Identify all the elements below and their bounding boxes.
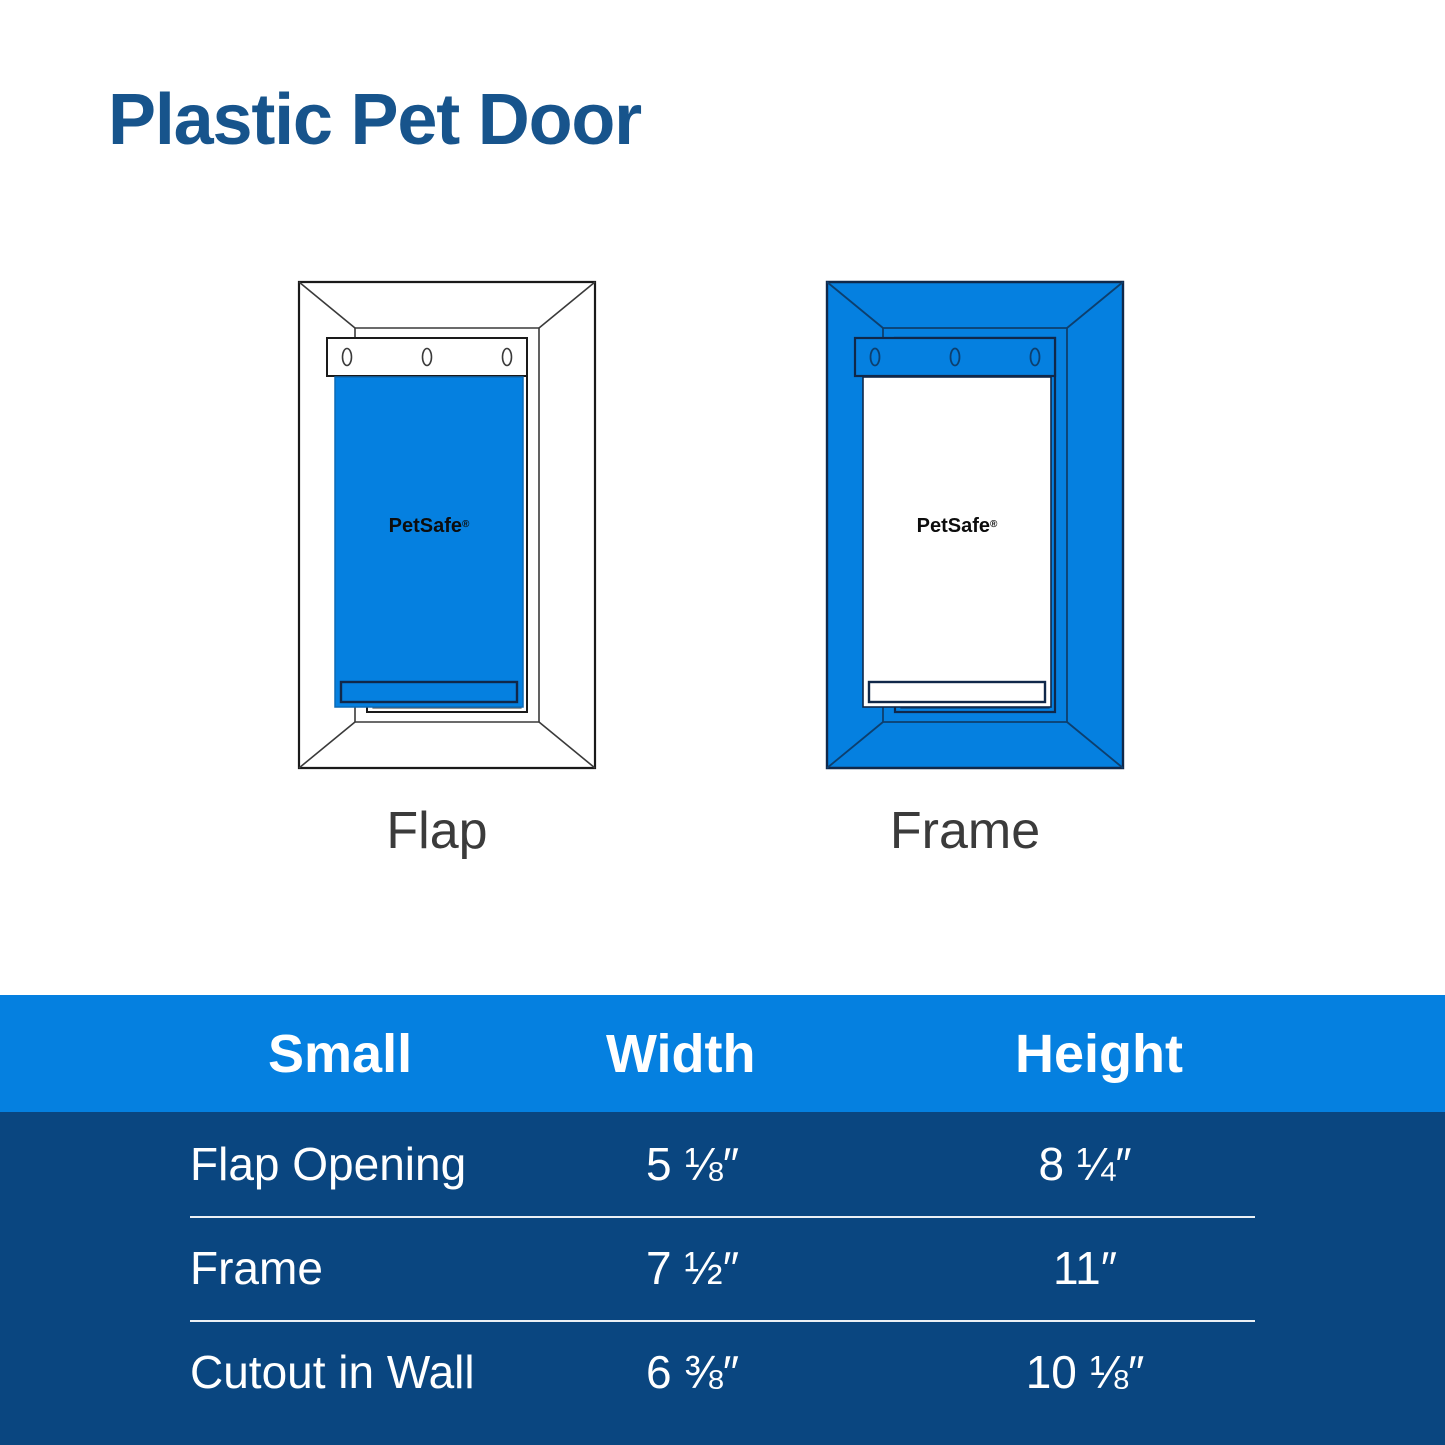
spec-table: Small Width Height Flap Opening 5 ⅛″ 8 ¼… (0, 995, 1445, 1445)
rivet-slot-icon (951, 349, 960, 366)
petsafe-logo: PetSafe® (389, 515, 470, 537)
row-height-cutout-in-wall: 10 ⅛″ (875, 1349, 1295, 1395)
row-height-frame: 11″ (875, 1245, 1295, 1291)
row-width-frame: 7 ½″ (510, 1245, 875, 1291)
pet-door-flap-diagram: PetSafe® (247, 270, 627, 780)
rivet-slot-icon (1031, 349, 1040, 366)
column-header-width: Width (510, 1027, 875, 1081)
caption-flap: Flap (247, 805, 627, 857)
petsafe-logo: PetSafe® (917, 515, 998, 537)
pet-door-frame-diagram: PetSafe® (775, 270, 1155, 780)
table-row: Cutout in Wall 6 ⅜″ 10 ⅛″ (0, 1320, 1445, 1424)
rivet-slot-icon (343, 349, 352, 366)
row-label-frame: Frame (0, 1245, 510, 1291)
table-row: Frame 7 ½″ 11″ (0, 1216, 1445, 1320)
weather-strip (869, 682, 1045, 702)
table-row: Flap Opening 5 ⅛″ 8 ¼″ (0, 1112, 1445, 1216)
flap-panel (335, 377, 523, 707)
column-header-size: Small (0, 1027, 510, 1081)
page-title: Plastic Pet Door (108, 84, 641, 156)
weather-strip (341, 682, 517, 702)
table-header-row: Small Width Height (0, 995, 1445, 1112)
infographic-page: Plastic Pet Door (0, 0, 1445, 1445)
illustration-flap: PetSafe® Flap (247, 270, 627, 890)
spec-table-header: Small Width Height (0, 995, 1445, 1112)
row-label-cutout-in-wall: Cutout in Wall (0, 1349, 510, 1395)
row-label-flap-opening: Flap Opening (0, 1141, 510, 1187)
flap-panel (863, 377, 1051, 707)
row-width-flap-opening: 5 ⅛″ (510, 1141, 875, 1187)
rivet-slot-icon (871, 349, 880, 366)
rivet-slot-icon (503, 349, 512, 366)
row-width-cutout-in-wall: 6 ⅜″ (510, 1349, 875, 1395)
illustration-group: PetSafe® Flap (0, 270, 1445, 890)
rivet-slot-icon (423, 349, 432, 366)
row-height-flap-opening: 8 ¼″ (875, 1141, 1295, 1187)
column-header-height: Height (875, 1027, 1295, 1081)
caption-frame: Frame (775, 805, 1155, 857)
spec-table-body: Flap Opening 5 ⅛″ 8 ¼″ Frame 7 ½″ 11″ Cu… (0, 1112, 1445, 1445)
illustration-frame: PetSafe® Frame (775, 270, 1155, 890)
